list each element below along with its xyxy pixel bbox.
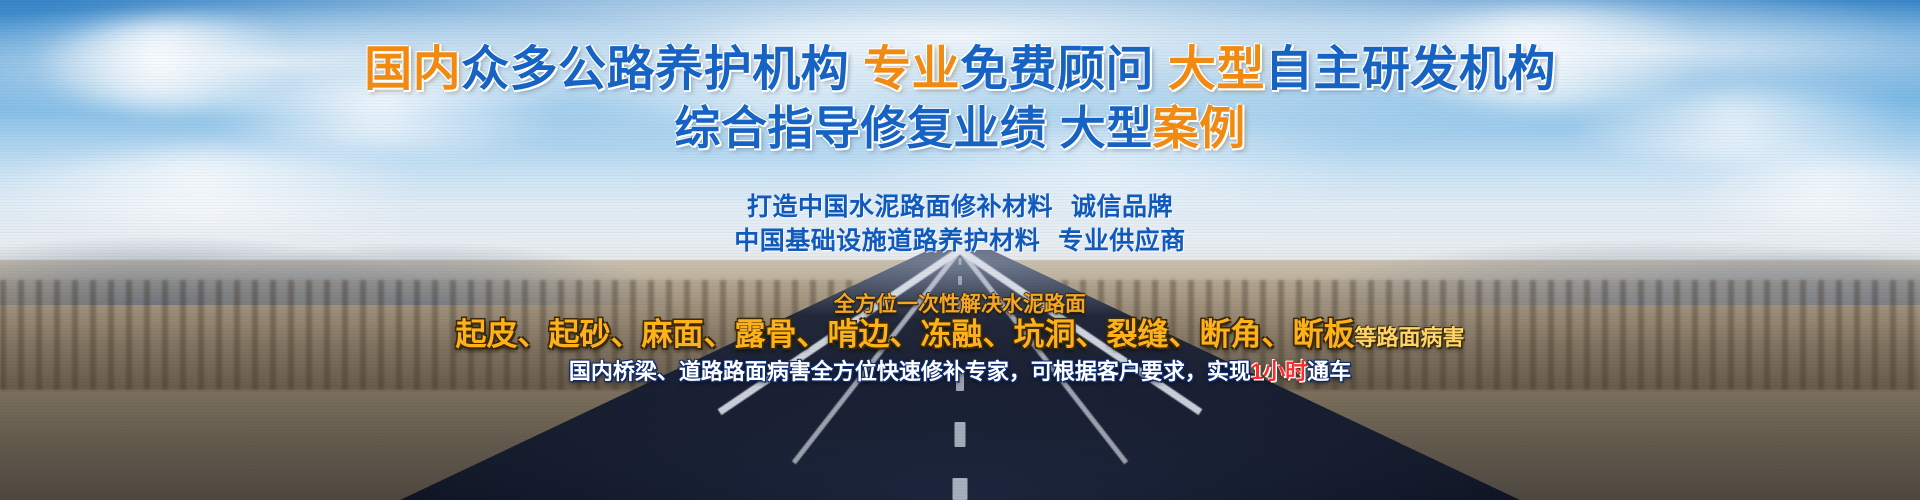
headline-seg-guonei: 国内 bbox=[364, 43, 461, 96]
road-claim-suffix: 通车 bbox=[1307, 359, 1351, 384]
headline-seg-zhongduo: 众多公路养护机构 bbox=[461, 43, 849, 96]
subtitle-2-tag: 专业供应商 bbox=[1058, 227, 1186, 255]
road-text-line-3: 国内桥梁、道路路面病害全方位快速修补专家，可根据客户要求，实现1小时通车 bbox=[0, 358, 1920, 385]
subtitle-1-main: 打造中国水泥路面修补材料 bbox=[747, 193, 1053, 221]
road-claim-highlight: 1小时 bbox=[1251, 359, 1307, 384]
road-text-line-2: 起皮、起砂、麻面、露骨、啃边、冻融、坑洞、裂缝、断角、断板等路面病害 bbox=[0, 316, 1920, 357]
road-text-line-1: 全方位一次性解决水泥路面 bbox=[0, 293, 1920, 317]
headline-seg-daxing: 大型 bbox=[1168, 43, 1265, 96]
headline-gap-3 bbox=[1046, 102, 1059, 154]
road-claim-prefix: 国内桥梁、道路路面病害全方位快速修补专家，可根据客户要求，实现 bbox=[569, 359, 1251, 384]
headline-line-1: 国内众多公路养护机构 专业免费顾问 大型自主研发机构 bbox=[0, 44, 1920, 96]
headline-seg-anli: 案例 bbox=[1153, 102, 1246, 154]
promo-banner: 国内众多公路养护机构 专业免费顾问 大型自主研发机构 综合指导修复业绩 大型案例… bbox=[0, 0, 1920, 500]
headline-gap-2 bbox=[1154, 43, 1168, 96]
headline-seg-zhuanye: 专业 bbox=[863, 43, 960, 96]
road-defects-suffix: 等路面病害 bbox=[1354, 325, 1464, 350]
subtitle-2-main: 中国基础设施道路养护材料 bbox=[734, 227, 1040, 255]
subtitle-1-tag: 诚信品牌 bbox=[1071, 193, 1173, 221]
headline-line-2: 综合指导修复业绩 大型案例 bbox=[0, 103, 1920, 153]
subtitle-line-2: 中国基础设施道路养护材料专业供应商 bbox=[0, 226, 1920, 256]
headline-seg-daxing-2: 大型 bbox=[1060, 102, 1153, 154]
headline-seg-zizhu: 自主研发机构 bbox=[1265, 43, 1556, 96]
subtitle-line-1: 打造中国水泥路面修补材料诚信品牌 bbox=[0, 192, 1920, 222]
headline-seg-mianfei: 免费顾问 bbox=[960, 43, 1154, 96]
headline-gap-1 bbox=[849, 43, 863, 96]
banner-content: 国内众多公路养护机构 专业免费顾问 大型自主研发机构 综合指导修复业绩 大型案例… bbox=[0, 0, 1920, 500]
road-defects-list: 起皮、起砂、麻面、露骨、啃边、冻融、坑洞、裂缝、断角、断板 bbox=[455, 317, 1354, 352]
headline-seg-zonghe: 综合指导修复业绩 bbox=[674, 102, 1046, 154]
